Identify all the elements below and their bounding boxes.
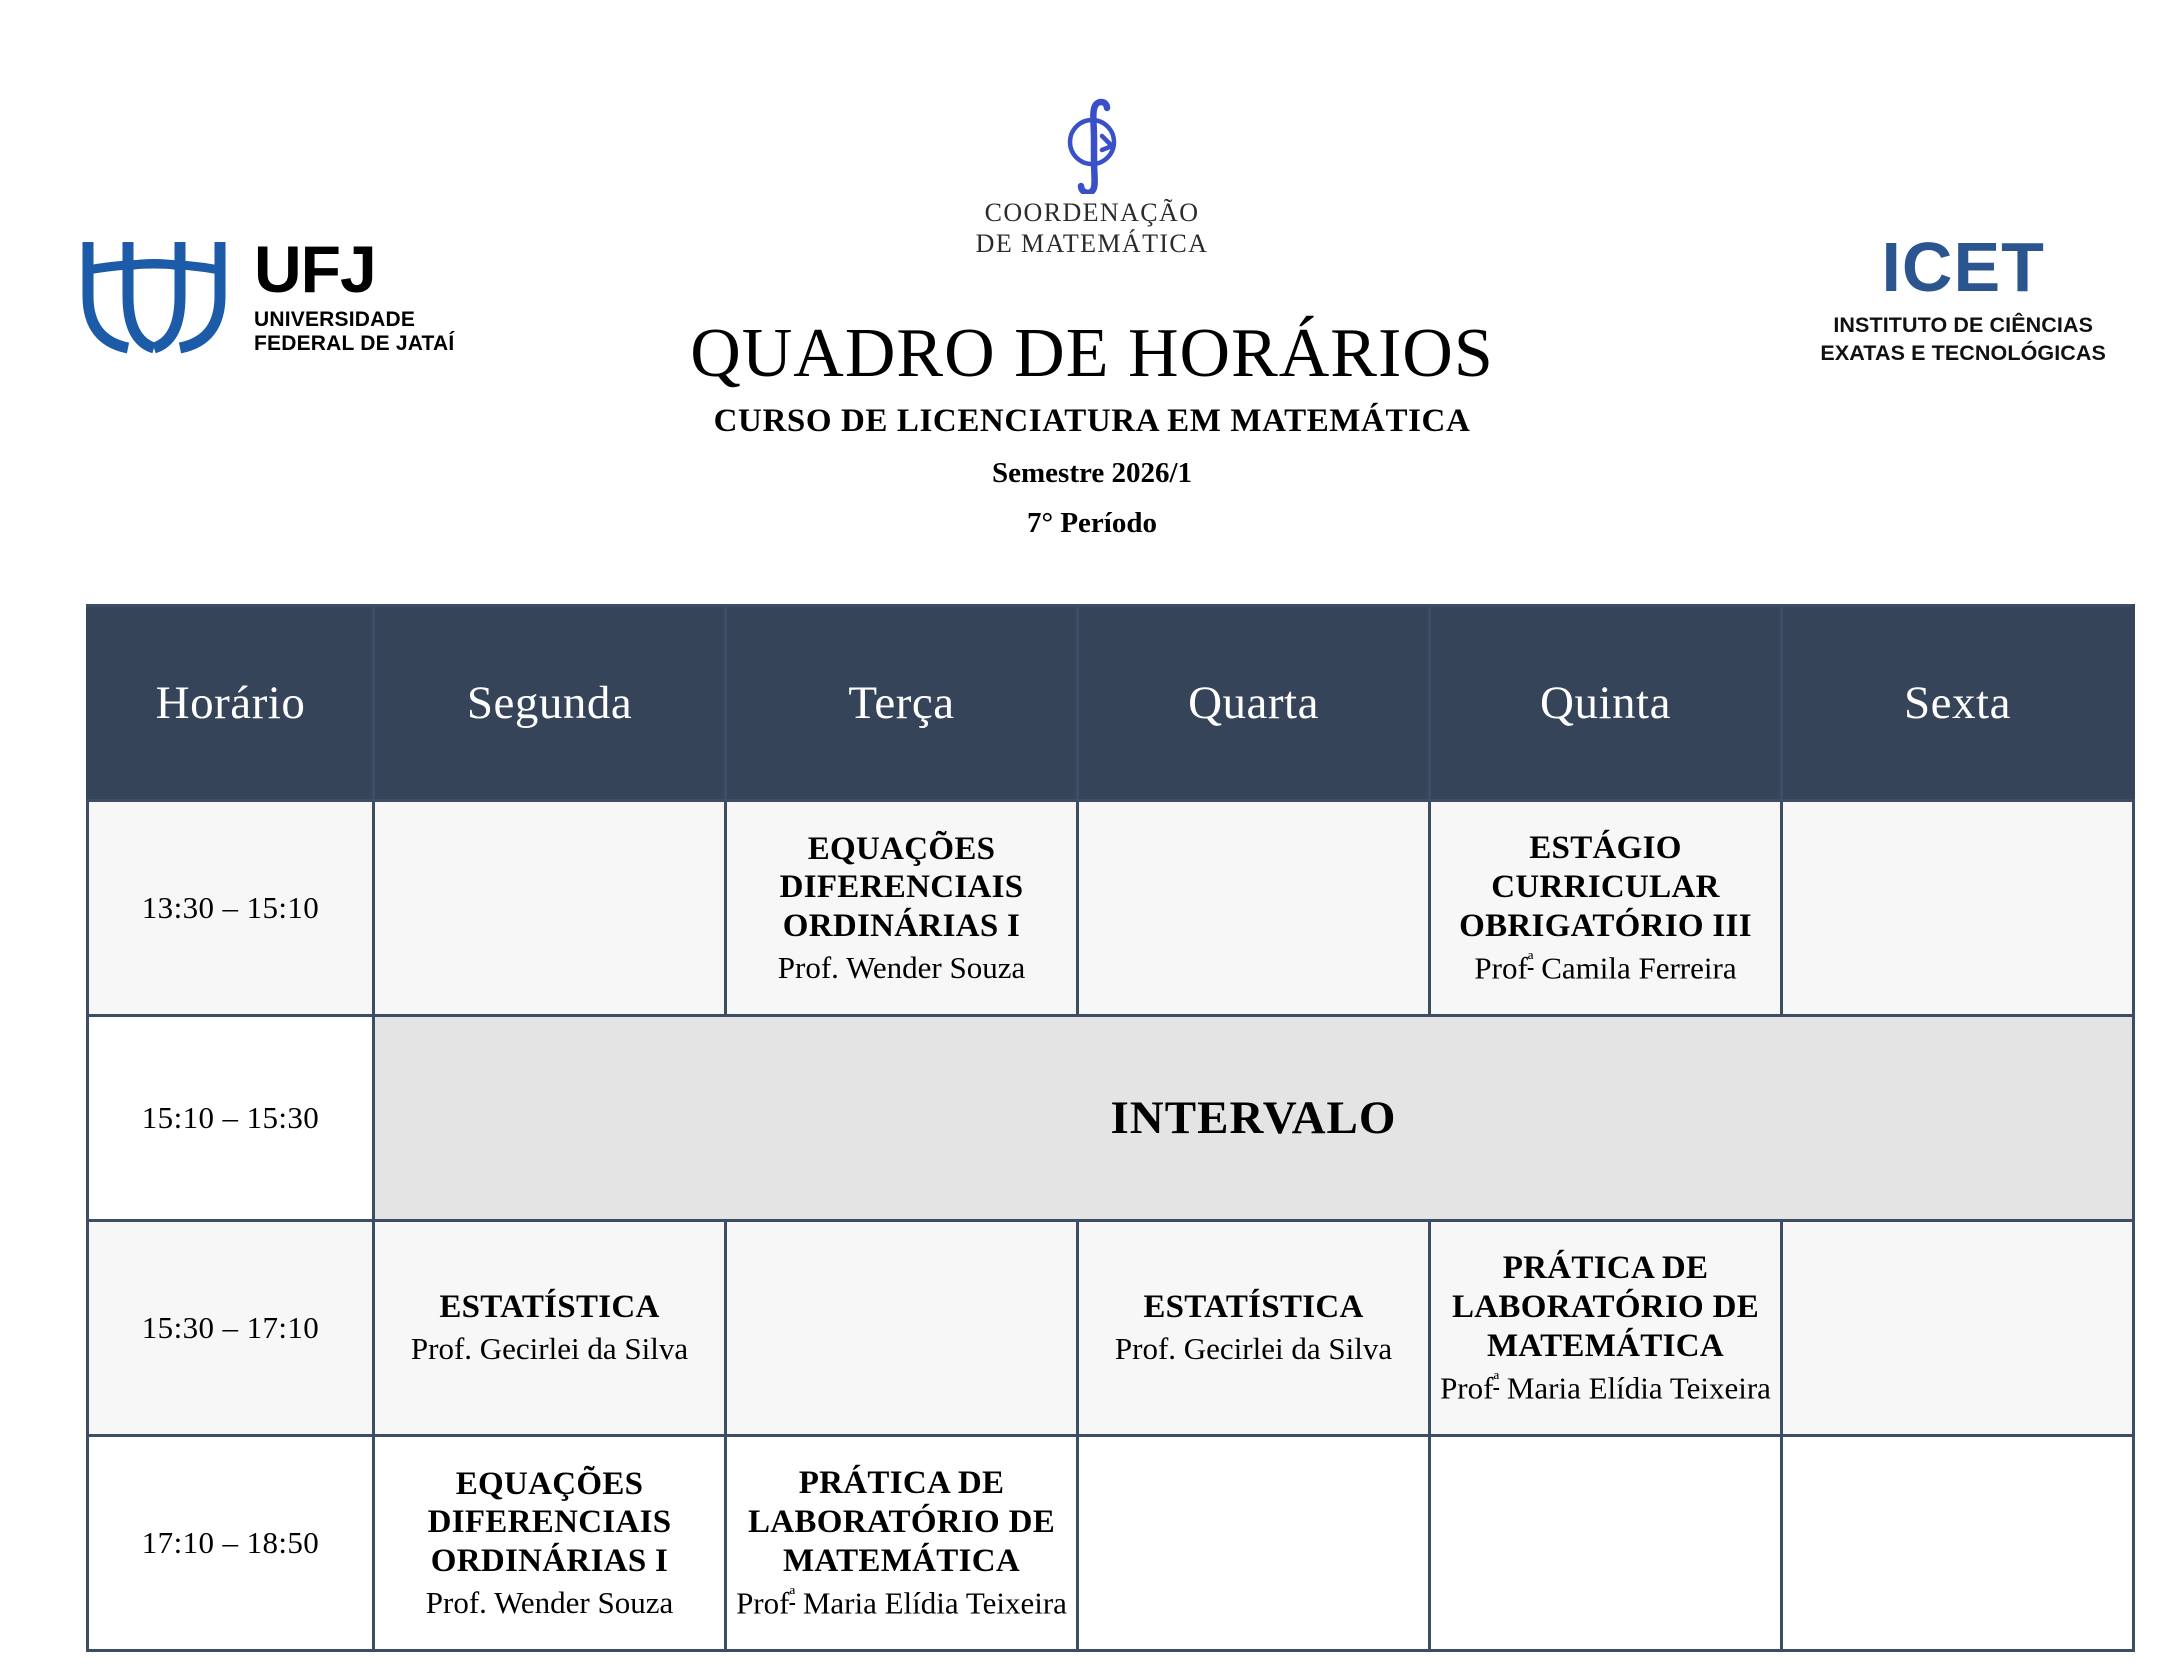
time-slot-4: 17:10 – 18:50 xyxy=(88,1436,374,1651)
integral-contour-icon xyxy=(882,96,1302,194)
coordenacao-matematica-logo: COORDENAÇÃO DE MATEMÁTICA xyxy=(882,96,1302,259)
cell-segunda-1 xyxy=(374,801,726,1016)
column-header-quinta: Quinta xyxy=(1430,606,1782,801)
column-header-sexta: Sexta xyxy=(1782,606,2134,801)
cell-sexta-3 xyxy=(1782,1221,2134,1436)
course-name: PRÁTICA DE LABORATÓRIO DE MATEMÁTICA xyxy=(1439,1249,1772,1366)
icet-logo: ICET INSTITUTO DE CIÊNCIAS EXATAS E TECN… xyxy=(1820,232,2106,368)
course-professor: Prof. Gecirlei da Silva xyxy=(383,1330,716,1367)
ufj-acronym: UFJ xyxy=(254,236,454,302)
schedule-table: Horário Segunda Terça Quarta Quinta Sext… xyxy=(86,604,2135,1652)
icet-subtitle: INSTITUTO DE CIÊNCIAS EXATAS E TECNOLÓGI… xyxy=(1820,311,2106,368)
course-professor: Profª Maria Elídia Teixeira xyxy=(1439,1369,1772,1407)
course-professor: Profª Camila Ferreira xyxy=(1439,949,1772,987)
coordenacao-text: COORDENAÇÃO DE MATEMÁTICA xyxy=(882,198,1302,259)
cell-terca-1: EQUAÇÕES DIFERENCIAIS ORDINÁRIAS I Prof.… xyxy=(726,801,1078,1016)
icet-line1: INSTITUTO DE CIÊNCIAS xyxy=(1820,311,2106,339)
coordenacao-line2: DE MATEMÁTICA xyxy=(882,229,1302,260)
table-row: 15:10 – 15:30 INTERVALO xyxy=(88,1016,2134,1221)
column-header-terca: Terça xyxy=(726,606,1078,801)
cell-terca-3 xyxy=(726,1221,1078,1436)
schedule-table-wrapper: Horário Segunda Terça Quarta Quinta Sext… xyxy=(86,604,2134,1652)
cell-quarta-4 xyxy=(1078,1436,1430,1651)
ufj-logo: UFJ UNIVERSIDADE FEDERAL DE JATAÍ xyxy=(78,236,454,354)
icet-line2: EXATAS E TECNOLÓGICAS xyxy=(1820,339,2106,367)
course-name: PRÁTICA DE LABORATÓRIO DE MATEMÁTICA xyxy=(735,1464,1068,1581)
cell-quinta-4 xyxy=(1430,1436,1782,1651)
table-header-row: Horário Segunda Terça Quarta Quinta Sext… xyxy=(88,606,2134,801)
cell-sexta-4 xyxy=(1782,1436,2134,1651)
schedule-table-body: 13:30 – 15:10 EQUAÇÕES DIFERENCIAIS ORDI… xyxy=(88,801,2134,1651)
schedule-table-head: Horário Segunda Terça Quarta Quinta Sext… xyxy=(88,606,2134,801)
course-professor: Prof. Wender Souza xyxy=(383,1584,716,1621)
course-name: EQUAÇÕES DIFERENCIAIS ORDINÁRIAS I xyxy=(383,1465,716,1582)
cell-segunda-3: ESTATÍSTICA Prof. Gecirlei da Silva xyxy=(374,1221,726,1436)
coordenacao-line1: COORDENAÇÃO xyxy=(882,198,1302,229)
break-cell-intervalo: INTERVALO xyxy=(374,1016,2134,1221)
time-slot-1: 13:30 – 15:10 xyxy=(88,801,374,1016)
table-row: 17:10 – 18:50 EQUAÇÕES DIFERENCIAIS ORDI… xyxy=(88,1436,2134,1651)
period-label: 7° Período xyxy=(0,507,2184,540)
page-subtitle: CURSO DE LICENCIATURA EM MATEMÁTICA xyxy=(0,403,2184,440)
course-name: ESTATÍSTICA xyxy=(1087,1288,1420,1327)
column-header-quarta: Quarta xyxy=(1078,606,1430,801)
time-slot-2: 15:10 – 15:30 xyxy=(88,1016,374,1221)
ufj-line1: UNIVERSIDADE xyxy=(254,309,454,330)
semester-label: Semestre 2026/1 xyxy=(0,457,2184,490)
icet-acronym: ICET xyxy=(1820,232,2106,302)
cell-quinta-3: PRÁTICA DE LABORATÓRIO DE MATEMÁTICA Pro… xyxy=(1430,1221,1782,1436)
course-professor: Prof. Wender Souza xyxy=(735,949,1068,986)
table-row: 13:30 – 15:10 EQUAÇÕES DIFERENCIAIS ORDI… xyxy=(88,801,2134,1016)
cell-quarta-3: ESTATÍSTICA Prof. Gecirlei da Silva xyxy=(1078,1221,1430,1436)
cell-quarta-1 xyxy=(1078,801,1430,1016)
ufj-wordmark: UFJ UNIVERSIDADE FEDERAL DE JATAÍ xyxy=(254,236,454,354)
course-professor: Profª Maria Elídia Teixeira xyxy=(735,1584,1068,1622)
table-row: 15:30 – 17:10 ESTATÍSTICA Prof. Gecirlei… xyxy=(88,1221,2134,1436)
column-header-horario: Horário xyxy=(88,606,374,801)
time-slot-3: 15:30 – 17:10 xyxy=(88,1221,374,1436)
course-professor: Prof. Gecirlei da Silva xyxy=(1087,1330,1420,1367)
cell-segunda-4: EQUAÇÕES DIFERENCIAIS ORDINÁRIAS I Prof.… xyxy=(374,1436,726,1651)
logo-band: UFJ UNIVERSIDADE FEDERAL DE JATAÍ COORDE… xyxy=(0,0,2184,420)
cell-terca-4: PRÁTICA DE LABORATÓRIO DE MATEMÁTICA Pro… xyxy=(726,1436,1078,1651)
ufj-line2: FEDERAL DE JATAÍ xyxy=(254,333,454,354)
ufj-shield-icon xyxy=(78,236,230,354)
column-header-segunda: Segunda xyxy=(374,606,726,801)
cell-quinta-1: ESTÁGIO CURRICULAR OBRIGATÓRIO III Profª… xyxy=(1430,801,1782,1016)
course-name: ESTATÍSTICA xyxy=(383,1288,716,1327)
course-name: EQUAÇÕES DIFERENCIAIS ORDINÁRIAS I xyxy=(735,830,1068,947)
course-name: ESTÁGIO CURRICULAR OBRIGATÓRIO III xyxy=(1439,829,1772,946)
cell-sexta-1 xyxy=(1782,801,2134,1016)
